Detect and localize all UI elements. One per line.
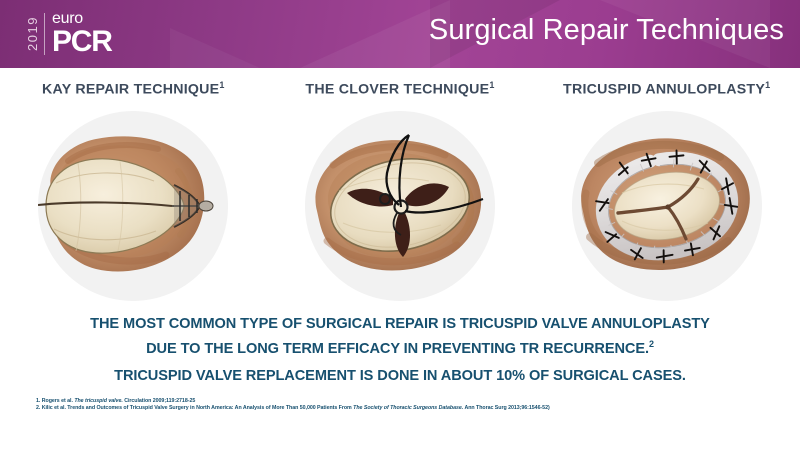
footnote-2-prefix: 2. Kilic et al. Trends and Outcomes of T… [36, 405, 353, 411]
footnote-item-2: 2. Kilic et al. Trends and Outcomes of T… [36, 405, 776, 412]
technique-figures-row [0, 108, 800, 304]
page-title: Surgical Repair Techniques [429, 14, 784, 47]
heading-clover-technique-superscript: 1 [489, 80, 494, 90]
suture-pledget [199, 201, 213, 211]
figure-cell-kay-repair [0, 108, 267, 304]
clover-technique-illustration [305, 111, 495, 301]
footnote-1-suffix: Circulation 2009;119:2718-25 [123, 398, 195, 404]
header-facet-decoration [170, 28, 260, 68]
heading-kay-repair-superscript: 1 [219, 80, 224, 90]
footnote-item-1: 1. Rogers et al. The tricuspid valve. Ci… [36, 398, 776, 405]
logo-wordmark: euro PCR [52, 11, 112, 57]
heading-tricuspid-annuloplasty-label: TRICUSPID ANNULOPLASTY [563, 82, 765, 98]
tricuspid-annuloplasty-illustration [572, 111, 762, 301]
heading-kay-repair-label: KAY REPAIR TECHNIQUE [42, 82, 219, 98]
logo-year: 2019 [26, 11, 39, 57]
europcr-logo: 2019 euro PCR [26, 8, 112, 60]
heading-kay-repair: KAY REPAIR TECHNIQUE1 [0, 80, 267, 98]
statement-line-2-superscript: 2 [649, 339, 654, 349]
clover-technique-svg [305, 111, 495, 301]
heading-clover-technique-label: THE CLOVER TECHNIQUE [305, 82, 489, 98]
footnote-references: 1. Rogers et al. The tricuspid valve. Ci… [36, 398, 776, 411]
logo-divider [44, 13, 45, 55]
footnote-1-journal: The tricuspid valve. [74, 398, 122, 404]
footnote-1-prefix: 1. Rogers et al. [36, 398, 74, 404]
figure-cell-tricuspid-annuloplasty [533, 108, 800, 304]
heading-tricuspid-annuloplasty-superscript: 1 [765, 80, 770, 90]
kay-repair-illustration [38, 111, 228, 301]
figure-cell-clover-technique [267, 108, 534, 304]
slide-header: 2019 euro PCR Surgical Repair Techniques [0, 0, 800, 68]
footnote-2-journal: The Society of Thoracic Surgeons Databas… [353, 405, 463, 411]
key-statement: THE MOST COMMON TYPE OF SURGICAL REPAIR … [40, 314, 760, 386]
heading-tricuspid-annuloplasty: TRICUSPID ANNULOPLASTY1 [533, 80, 800, 98]
technique-headings-row: KAY REPAIR TECHNIQUE1 THE CLOVER TECHNIQ… [0, 80, 800, 98]
header-facet-decoration [300, 0, 450, 68]
footnote-2-suffix: Ann Thorac Surg 2013;96:1546-52) [463, 405, 549, 411]
statement-line-1: THE MOST COMMON TYPE OF SURGICAL REPAIR … [40, 314, 760, 334]
statement-spacer [40, 359, 760, 366]
tricuspid-annuloplasty-svg [572, 111, 762, 301]
statement-line-3: TRICUSPID VALVE REPLACEMENT IS DONE IN A… [40, 366, 760, 386]
logo-pcr-text: PCR [52, 28, 112, 57]
statement-line-2-text: DUE TO THE LONG TERM EFFICACY IN PREVENT… [146, 341, 649, 357]
statement-line-2: DUE TO THE LONG TERM EFFICACY IN PREVENT… [40, 334, 760, 359]
heading-clover-technique: THE CLOVER TECHNIQUE1 [267, 80, 534, 98]
kay-repair-svg [38, 111, 228, 301]
